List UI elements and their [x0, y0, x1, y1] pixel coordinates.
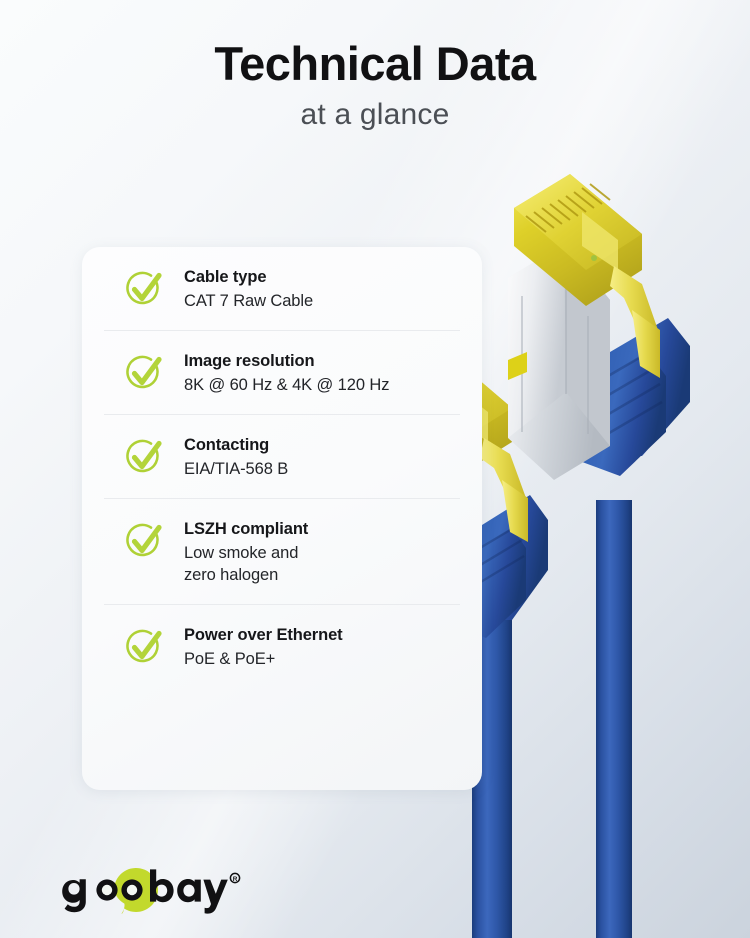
check-circle-icon — [122, 267, 166, 311]
spec-item-cable-type: Cable type CAT 7 Raw Cable — [104, 247, 460, 330]
spec-label: Power over Ethernet — [184, 626, 343, 644]
check-circle-icon — [122, 625, 166, 669]
spec-label: Contacting — [184, 436, 269, 454]
svg-text:R: R — [233, 876, 238, 883]
check-circle-icon — [122, 519, 166, 563]
spec-value: EIA/TIA-568 B — [184, 458, 288, 480]
spec-value: Low smoke and zero halogen — [184, 542, 308, 586]
check-circle-icon — [122, 435, 166, 479]
page-subtitle: at a glance — [0, 96, 750, 134]
page-title: Technical Data — [0, 36, 750, 92]
spec-value: PoE & PoE+ — [184, 648, 343, 670]
spec-label: Cable type — [184, 268, 266, 286]
spec-label: LSZH compliant — [184, 520, 308, 538]
check-circle-icon — [122, 351, 166, 395]
spec-item-lszh-compliant: LSZH compliant Low smoke and zero haloge… — [104, 498, 460, 604]
spec-label: Image resolution — [184, 352, 314, 370]
technical-data-infographic: Technical Data at a glance Cable type CA… — [0, 0, 750, 938]
specifications-card: Cable type CAT 7 Raw Cable Image resolut… — [82, 247, 482, 790]
spec-item-contacting: Contacting EIA/TIA-568 B — [104, 414, 460, 498]
registered-mark-icon: R — [230, 873, 239, 883]
spec-value: CAT 7 Raw Cable — [184, 290, 313, 312]
specifications-list: Cable type CAT 7 Raw Cable Image resolut… — [104, 247, 460, 790]
spec-value: 8K @ 60 Hz & 4K @ 120 Hz — [184, 374, 389, 396]
spec-item-image-resolution: Image resolution 8K @ 60 Hz & 4K @ 120 H… — [104, 330, 460, 414]
goobay-logo: R — [50, 866, 250, 914]
spec-item-power-over-ethernet: Power over Ethernet PoE & PoE+ — [104, 604, 460, 688]
header: Technical Data at a glance — [0, 36, 750, 134]
